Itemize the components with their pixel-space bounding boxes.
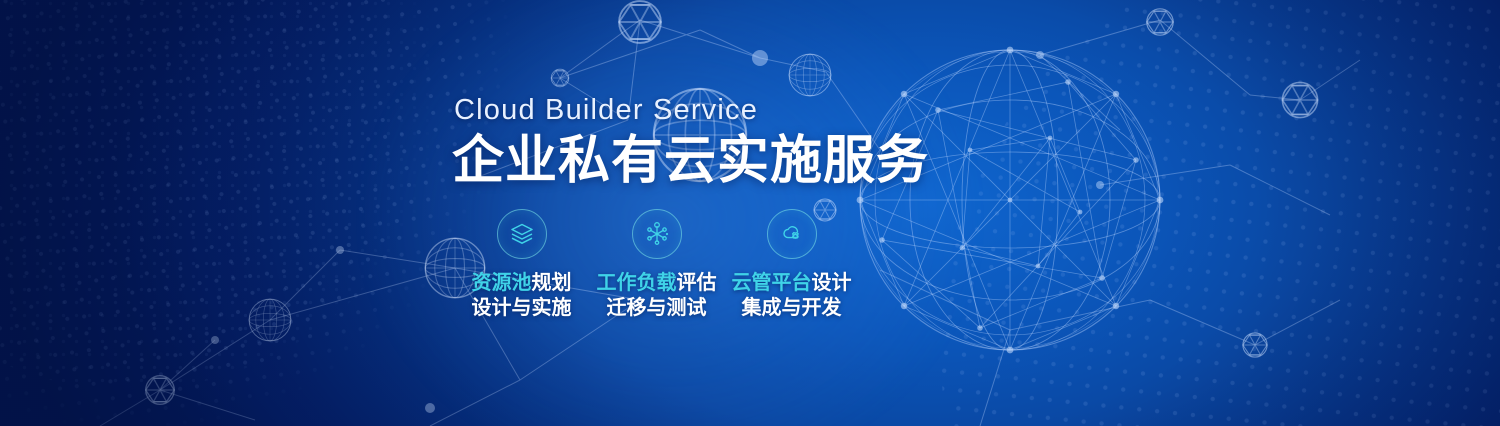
feature-item-workload[interactable]: 工作负载评估 迁移与测试 <box>589 209 724 319</box>
wireframe-polyhedron-g <box>1147 9 1173 35</box>
feature-plain-text: 设计 <box>812 270 852 294</box>
feature-item-cloud-platform[interactable]: 云管平台设计 集成与开发 <box>724 209 859 319</box>
feature-line-2: 设计与实施 <box>472 295 572 319</box>
feature-line-2: 迁移与测试 <box>607 295 707 319</box>
halftone-dot-sphere-bottom-right <box>899 0 1500 426</box>
feature-item-resource-pool[interactable]: 资源池规划 设计与实施 <box>454 209 589 319</box>
feature-line-1: 资源池规划 <box>472 270 572 294</box>
feature-line-2: 集成与开发 <box>742 295 842 319</box>
feature-plain-text: 评估 <box>677 270 717 294</box>
feature-list: 资源池规划 设计与实施 <box>454 209 932 319</box>
halftone-dot-sphere-top-left-inner <box>0 0 450 390</box>
wireframe-polyhedron-c <box>551 69 569 87</box>
hero-banner: Cloud Builder Service 企业私有云实施服务 资源池规划 设计… <box>0 0 1500 426</box>
cloud-gear-icon <box>767 209 817 259</box>
network-nodes-icon <box>632 209 682 259</box>
feature-line-1: 工作负载评估 <box>597 270 717 294</box>
feature-accent-text: 工作负载 <box>597 270 677 294</box>
feature-accent-text: 资源池 <box>472 270 532 294</box>
wireframe-globe-top-right <box>789 54 831 96</box>
feature-line-1: 云管平台设计 <box>732 270 852 294</box>
banner-content: Cloud Builder Service 企业私有云实施服务 资源池规划 设计… <box>452 96 932 319</box>
feature-plain-text: 规划 <box>532 270 572 294</box>
layers-stack-icon <box>497 209 547 259</box>
wireframe-globe-small-left <box>249 299 291 341</box>
wireframe-polyhedron-a <box>619 1 661 43</box>
wireframe-polyhedron-d <box>1282 82 1317 117</box>
wireframe-polyhedron-f <box>146 376 175 405</box>
banner-subtitle: Cloud Builder Service <box>454 96 932 125</box>
wireframe-polyhedron-e <box>1243 333 1267 357</box>
banner-title: 企业私有云实施服务 <box>452 133 932 189</box>
feature-accent-text: 云管平台 <box>732 270 812 294</box>
